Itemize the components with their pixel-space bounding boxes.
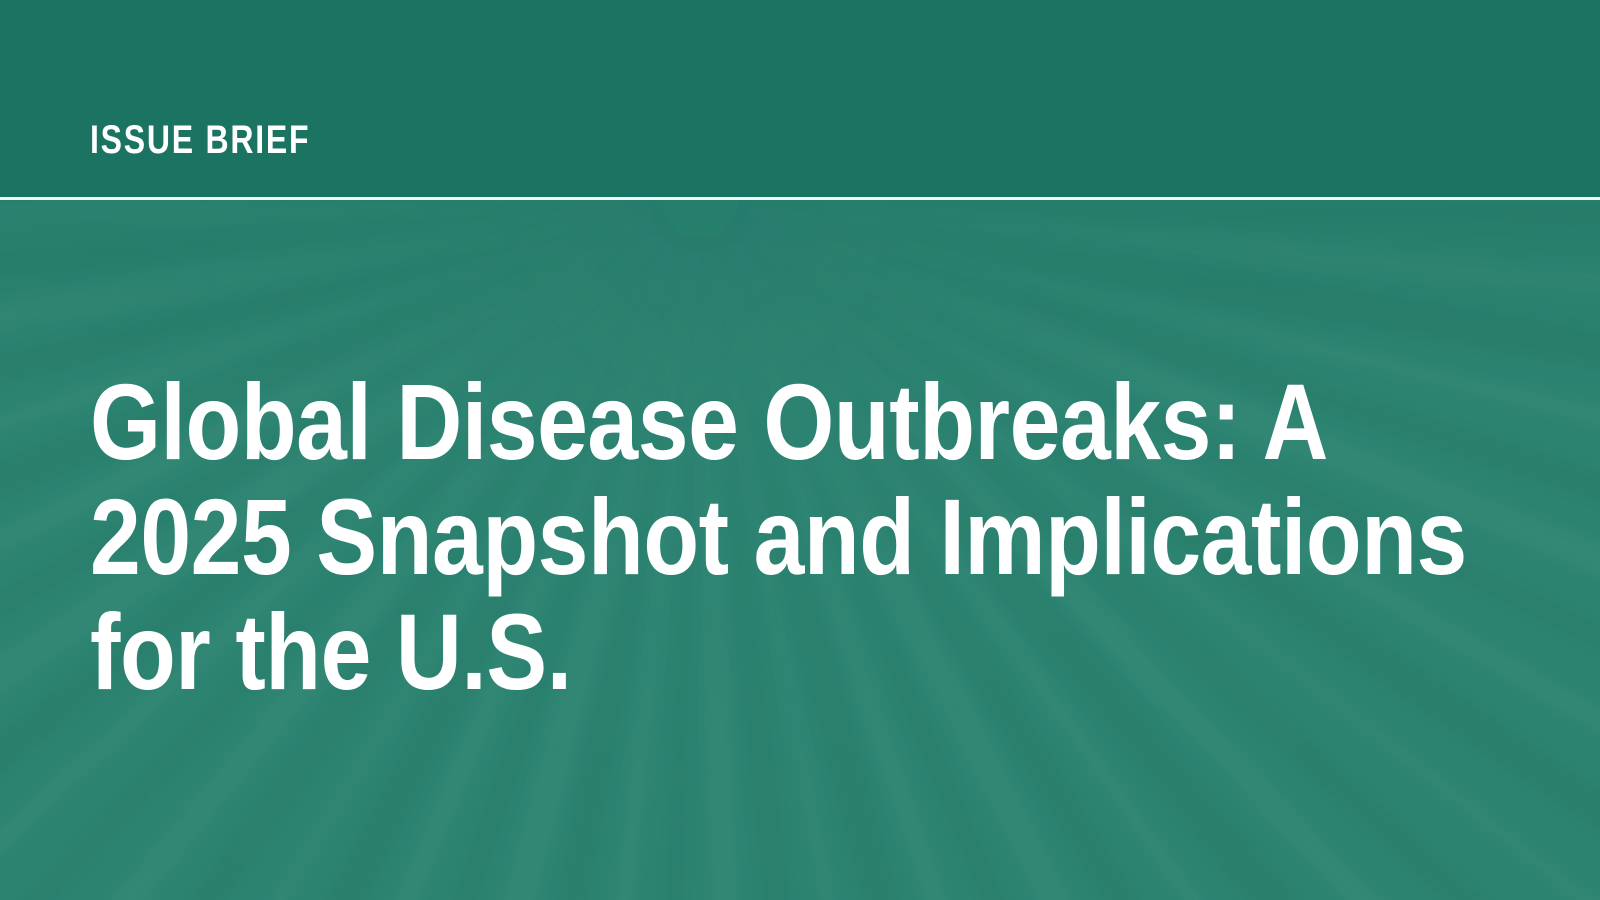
page-title-line-3: for the U.S. [90, 594, 1324, 709]
background-ray [700, 200, 1600, 207]
page-title-line-1: Global Disease Outbreaks: A [90, 364, 1324, 479]
background-ray [0, 200, 701, 215]
header-band [0, 0, 1600, 197]
background-ray [700, 200, 1600, 258]
page-title-line-2: 2025 Snapshot and Implications [90, 479, 1324, 594]
page-title: Global Disease Outbreaks: A 2025 Snapsho… [90, 364, 1324, 709]
header-divider [0, 197, 1600, 200]
eyebrow-label: ISSUE BRIEF [90, 118, 310, 162]
background-ray [0, 200, 700, 259]
issue-brief-cover: ISSUE BRIEF Global Disease Outbreaks: A … [0, 0, 1600, 900]
